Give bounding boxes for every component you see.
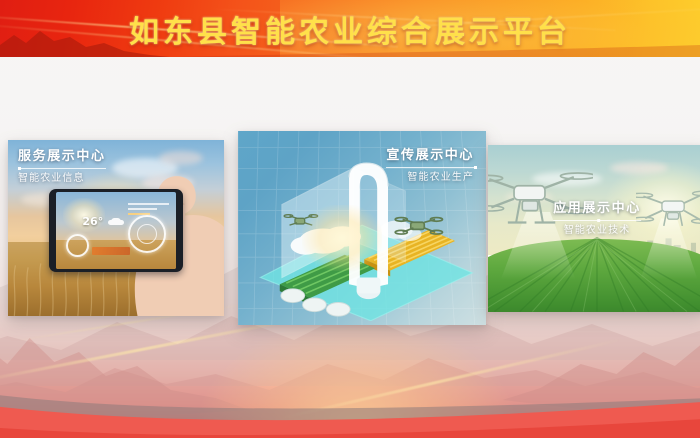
header-banner: 如东县智能农业综合展示平台 [0,0,700,57]
card-service-subtitle: 智能农业信息 [18,174,106,184]
smartphone-device: 26° [49,189,183,272]
hud-weather-cloud-icon [111,218,121,225]
card-publicity-caption: 宣传展示中心 智能农业生产 [386,149,474,183]
card-service-title: 服务展示中心 [18,150,106,163]
card-application-center[interactable]: 应用展示中心 智能农业技术 [488,145,700,312]
hud-temperature: 26° [82,215,103,228]
drone-small-icon [636,182,700,235]
card-application-caption: 应用展示中心 智能农业技术 [553,202,641,236]
caption-divider [386,167,474,168]
card-application-title: 应用展示中心 [553,202,641,215]
phone-screen: 26° [56,192,176,269]
card-publicity-center[interactable]: 宣传展示中心 智能农业生产 [238,131,486,325]
caption-divider [553,220,641,221]
card-publicity-inner: 宣传展示中心 智能农业生产 [238,131,486,325]
card-publicity-title: 宣传展示中心 [386,149,474,162]
page-title: 如东县智能农业综合展示平台 [0,0,700,57]
hud-gauge-ring-icon [66,234,89,257]
card-application-subtitle: 智能农业技术 [553,226,641,236]
card-service-inner: 26° 服务展示中心 智能农业信息 [8,140,224,316]
platform-home-screen: 如东县智能农业综合展示平台 [0,0,700,438]
card-service-caption: 服务展示中心 智能农业信息 [18,150,106,184]
card-publicity-subtitle: 智能农业生产 [386,173,474,183]
card-service-center[interactable]: 26° 服务展示中心 智能农业信息 [8,140,224,316]
card-application-inner: 应用展示中心 智能农业技术 [488,145,700,312]
caption-divider [18,168,106,169]
hud-info-strip [92,247,130,255]
cloud [610,162,668,174]
